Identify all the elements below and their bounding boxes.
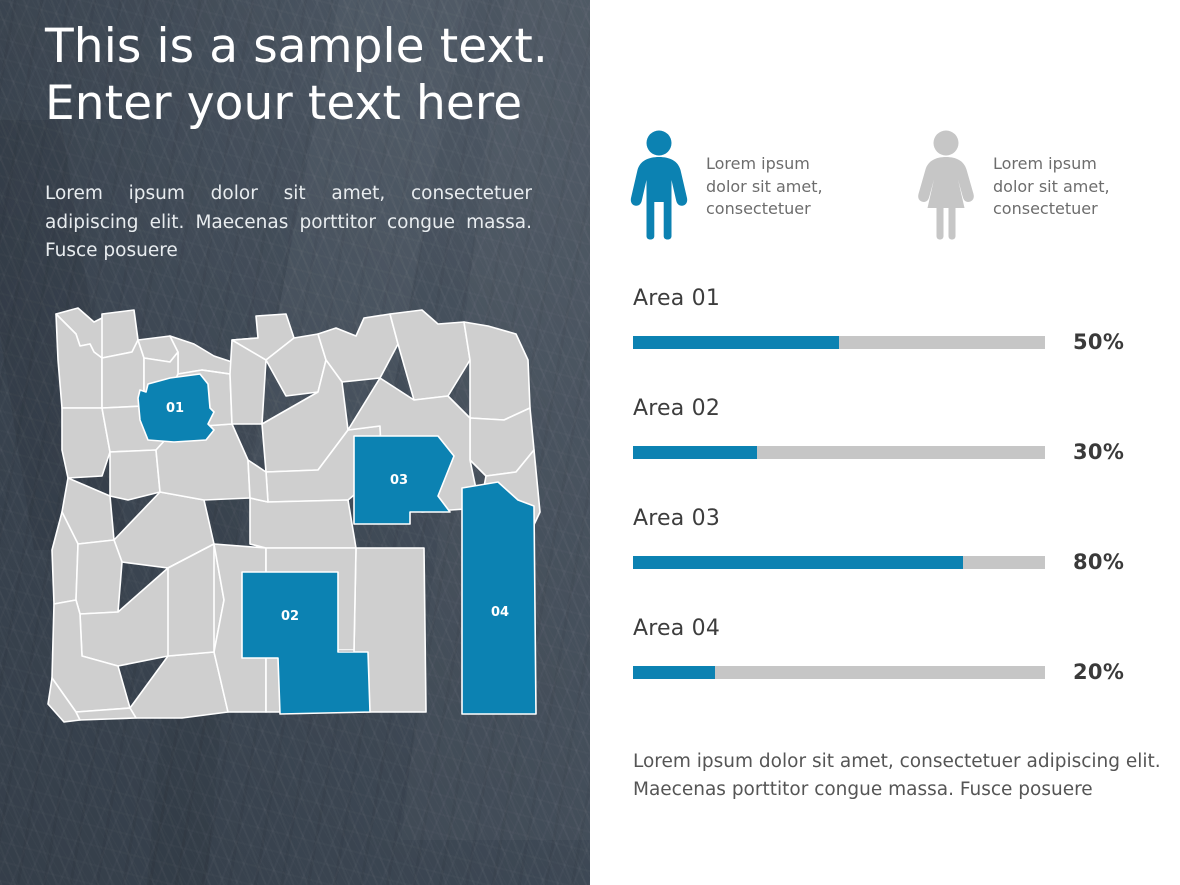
bar-value-area-02: 30% (1073, 440, 1124, 464)
female-figure-icon (915, 130, 977, 240)
bar-label-area-04: Area 04 (633, 618, 1153, 640)
bar-label-area-03: Area 03 (633, 508, 1153, 530)
right-content-panel: Lorem ipsum dolor sit amet, consectetuer… (590, 0, 1180, 885)
bar-row-area-04: Area 04 20% (633, 618, 1153, 728)
bar-value-area-01: 50% (1073, 330, 1124, 354)
map-region-label-04: 04 (491, 605, 509, 620)
bar-fill-area-04 (633, 666, 715, 679)
footer-note: Lorem ipsum dolor sit amet, consectetuer… (633, 748, 1161, 804)
bar-track-area-03[interactable] (633, 556, 1045, 569)
bar-fill-area-03 (633, 556, 963, 569)
bar-value-area-03: 80% (1073, 550, 1124, 574)
bar-track-area-04[interactable] (633, 666, 1045, 679)
left-hero-panel: This is a sample text. Enter your text h… (0, 0, 590, 885)
bar-row-area-02: Area 02 30% (633, 398, 1153, 508)
bar-fill-area-02 (633, 446, 757, 459)
bar-track-area-01[interactable] (633, 336, 1045, 349)
oregon-county-map[interactable]: 01 02 03 04 (18, 300, 576, 725)
male-figure-icon (628, 130, 690, 240)
legend-label-male: Lorem ipsum dolor sit amet, consectetuer (706, 153, 823, 221)
legend-item-male[interactable]: Lorem ipsum dolor sit amet, consectetuer (628, 130, 823, 240)
legend-label-female: Lorem ipsum dolor sit amet, consectetuer (993, 153, 1110, 221)
bar-value-area-04: 20% (1073, 660, 1124, 684)
map-region-label-03: 03 (390, 473, 408, 488)
bar-fill-area-01 (633, 336, 839, 349)
bar-row-area-01: Area 01 50% (633, 288, 1153, 398)
slide-title: This is a sample text. Enter your text h… (45, 18, 555, 133)
bar-track-area-02[interactable] (633, 446, 1045, 459)
bar-label-area-02: Area 02 (633, 398, 1153, 420)
map-region-04[interactable] (462, 482, 536, 714)
area-progress-chart: Area 01 50% Area 02 30% Area 03 (633, 288, 1153, 728)
bar-label-area-01: Area 01 (633, 288, 1153, 310)
legend-item-female[interactable]: Lorem ipsum dolor sit amet, consectetuer (915, 130, 1110, 240)
map-region-label-02: 02 (281, 609, 299, 624)
gender-legend: Lorem ipsum dolor sit amet, consectetuer… (628, 130, 1168, 260)
slide-subtitle: Lorem ipsum dolor sit amet, consectetuer… (45, 180, 532, 266)
map-region-label-01: 01 (166, 401, 184, 416)
bar-row-area-03: Area 03 80% (633, 508, 1153, 618)
